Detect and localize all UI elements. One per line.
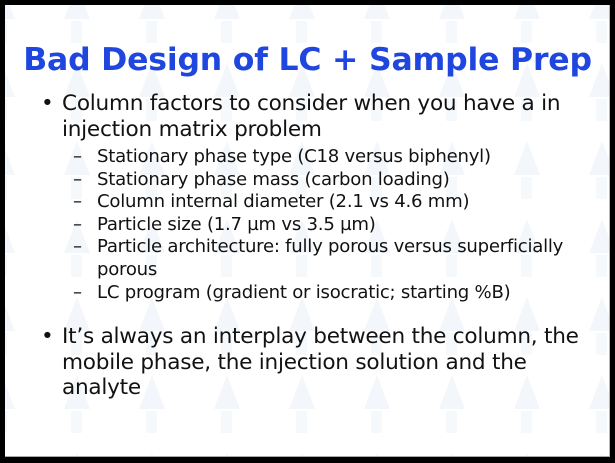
watermark-mark [585,453,610,457]
bullet-text: Particle size (1.7 µm vs 3.5 µm) [97,214,376,235]
watermark-bar-icon [71,21,82,43]
slide-body: • Column factors to consider when you ha… [5,91,610,401]
watermark-mark [360,453,394,457]
bullet-level1-column-factors: • Column factors to consider when you ha… [5,91,610,142]
dash-icon: – [73,236,82,259]
watermark-triangle-icon [439,5,465,19]
watermark-mark [60,5,94,31]
bullet-level2-column-internal-diameter: – Column internal diameter (2.1 vs 4.6 m… [5,191,610,214]
watermark-triangle-icon [139,5,165,19]
watermark-mark [510,5,544,31]
watermark-triangle-icon [289,453,315,457]
watermark-bar-icon [371,21,382,43]
watermark-mark [5,5,19,31]
watermark-mark [135,453,169,457]
watermark-triangle-icon [5,453,15,457]
bullet-text: Stationary phase type (C18 versus biphen… [97,146,491,167]
dash-icon: – [73,146,82,169]
watermark-triangle-icon [589,453,610,457]
bullet-text: Column factors to consider when you have… [62,91,560,142]
watermark-mark [210,5,244,31]
bullet-level2-stationary-phase-type: – Stationary phase type (C18 versus biph… [5,146,610,169]
spacer-line [5,304,610,324]
watermark-bar-icon [146,21,157,43]
watermark-triangle-icon [514,5,540,19]
watermark-mark [435,5,469,31]
watermark-mark [5,453,19,457]
dash-icon: – [73,214,82,237]
watermark-bar-icon [5,411,7,433]
bullet-level2-stationary-phase-mass: – Stationary phase mass (carbon loading) [5,169,610,192]
bullet-level2-particle-size: – Particle size (1.7 µm vs 3.5 µm) [5,214,610,237]
watermark-bar-icon [446,411,457,433]
watermark-bar-icon [521,411,532,433]
slide-canvas: Bad Design of LC + Sample Prep • Column … [5,5,610,457]
bullet-level2-lc-program: – LC program (gradient or isocratic; sta… [5,282,610,305]
sub-bullet-group: – Stationary phase type (C18 versus biph… [5,146,610,304]
bullet-text: Stationary phase mass (carbon loading) [97,169,450,190]
watermark-mark [360,5,394,31]
watermark-triangle-icon [5,5,15,19]
watermark-triangle-icon [289,5,315,19]
bullet-level2-particle-architecture: – Particle architecture: fully porous ve… [5,236,610,281]
watermark-triangle-icon [439,453,465,457]
watermark-bar-icon [296,21,307,43]
watermark-triangle-icon [139,453,165,457]
watermark-mark [60,453,94,457]
watermark-triangle-icon [589,5,610,19]
bullet-level1-interplay: • It’s always an interplay between the c… [5,324,610,401]
watermark-triangle-icon [214,453,240,457]
watermark-bar-icon [5,21,7,43]
watermark-triangle-icon [64,5,90,19]
dash-icon: – [73,282,82,305]
watermark-bar-icon [71,411,82,433]
bullet-text: Particle architecture: fully porous vers… [97,236,563,280]
watermark-mark [285,453,319,457]
watermark-bar-icon [521,21,532,43]
bullet-dot-icon: • [41,324,54,350]
watermark-triangle-icon [214,5,240,19]
bullet-text: LC program (gradient or isocratic; start… [97,282,510,303]
watermark-bar-icon [296,411,307,433]
watermark-mark [435,453,469,457]
watermark-bar-icon [221,411,232,433]
watermark-bar-icon [221,21,232,43]
watermark-bar-icon [596,21,607,43]
watermark-triangle-icon [64,453,90,457]
watermark-bar-icon [371,411,382,433]
bullet-text: It’s always an interplay between the col… [62,324,579,400]
watermark-mark [135,5,169,31]
watermark-mark [585,5,610,31]
watermark-triangle-icon [364,5,390,19]
watermark-mark [210,453,244,457]
slide-title: Bad Design of LC + Sample Prep [5,43,610,78]
bullet-text: Column internal diameter (2.1 vs 4.6 mm) [97,191,469,212]
watermark-bar-icon [446,21,457,43]
dash-icon: – [73,169,82,192]
dash-icon: – [73,191,82,214]
watermark-triangle-icon [364,453,390,457]
watermark-mark [510,453,544,457]
watermark-bar-icon [596,411,607,433]
watermark-bar-icon [146,411,157,433]
watermark-mark [285,5,319,31]
bullet-dot-icon: • [41,91,54,117]
watermark-triangle-icon [514,453,540,457]
